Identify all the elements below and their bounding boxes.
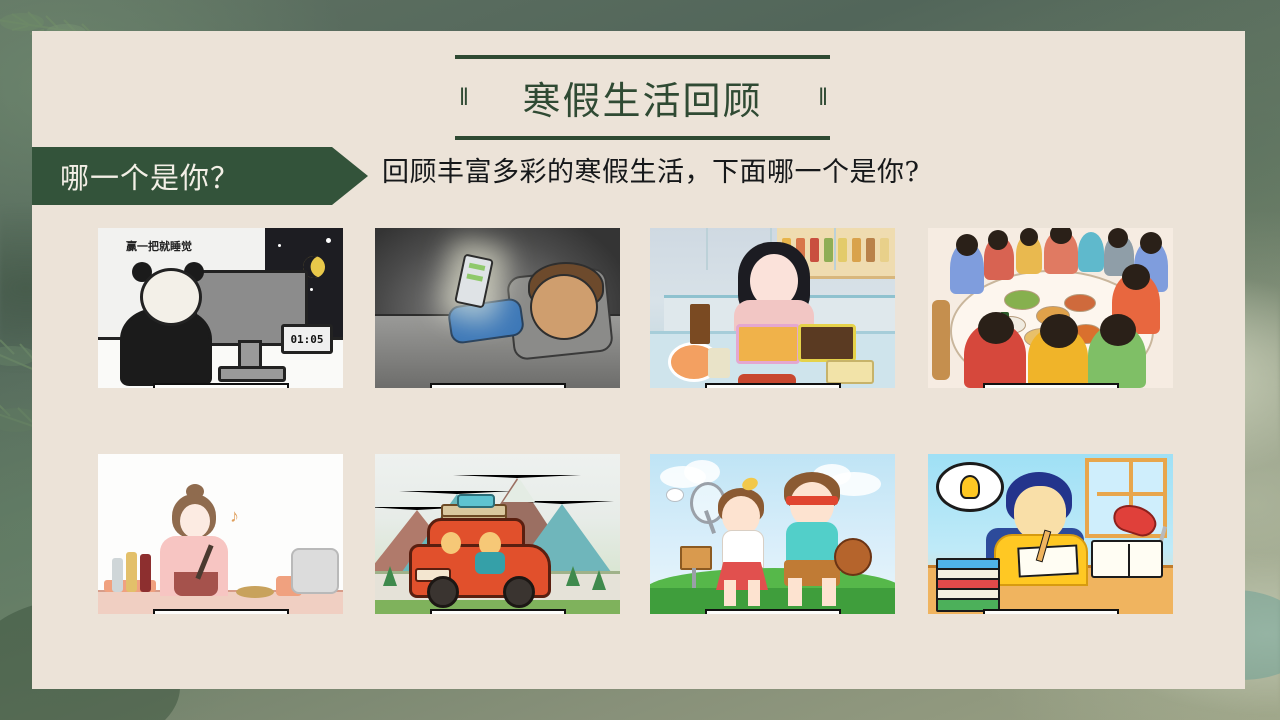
clock-time: 01:05: [290, 333, 323, 346]
wheel: [503, 576, 535, 608]
hoop-pole: [692, 568, 696, 588]
page-title: ‖ ‖ 寒假生活回顾: [455, 55, 830, 140]
card-label: 增强体魄: [705, 609, 841, 614]
jar: [880, 238, 889, 262]
wheel: [427, 576, 459, 608]
digital-clock: 01:05: [281, 324, 333, 354]
guest-head: [1020, 228, 1038, 246]
card-image-dinner-party: [928, 228, 1173, 388]
cabinet-divider: [834, 228, 836, 270]
boy-leg: [822, 578, 836, 606]
card-image-kids-sports: [650, 454, 895, 614]
card-image-road-trip: [375, 454, 620, 614]
panda-head: [140, 268, 202, 326]
jar: [866, 238, 875, 262]
star-icon: [310, 288, 313, 291]
card-image-boy-studying: [928, 454, 1173, 614]
monitor-base: [218, 366, 286, 382]
boy-shirt: [786, 522, 838, 564]
face: [180, 504, 210, 538]
card-image-phone-in-bed: [375, 228, 620, 388]
shuttlecock-icon: [666, 488, 684, 502]
card-label: 出行游玩: [430, 609, 566, 614]
card-mukbang[interactable]: 胡吃海喝: [650, 228, 895, 388]
card-image-panda-gamer: 赢一把就睡觉 01:05: [98, 228, 343, 388]
card-label: 朋友聚会: [983, 383, 1119, 388]
girl-leg: [724, 580, 736, 606]
luggage-top: [457, 494, 495, 508]
card-label: 胡吃海喝: [705, 383, 841, 388]
snack-box: [690, 304, 710, 344]
rice-cooker: [291, 548, 339, 594]
guest-head: [1140, 232, 1162, 254]
snow-cap: [503, 478, 535, 502]
passenger-head: [441, 532, 461, 554]
star-icon: [278, 244, 281, 247]
lightbulb-icon: [960, 475, 980, 499]
girl-leg: [748, 580, 760, 606]
guest-head: [1040, 314, 1078, 348]
subtitle-text: 回顾丰富多彩的寒假生活，下面哪一个是你?: [382, 150, 919, 189]
card-label: 昼夜游戏: [153, 383, 289, 388]
basketball-hoop: [680, 546, 712, 570]
card-phone-in-bed[interactable]: 网络达人: [375, 228, 620, 388]
slide-canvas: ‖ ‖ 寒假生活回顾 哪一个是你？ 回顾丰富多彩的寒假生活，下面哪一个是你?: [0, 0, 1280, 720]
meme-caption: 赢一把就睡觉: [126, 238, 192, 254]
guest-head: [956, 234, 978, 256]
cabinet-divider: [706, 228, 708, 270]
headband: [786, 496, 838, 505]
card-row-2: ♪ 增长技能: [98, 454, 1173, 680]
card-panda-gamer[interactable]: 赢一把就睡觉 01:05 昼夜游戏: [98, 228, 343, 388]
card-label: 网络达人: [430, 383, 566, 388]
head: [530, 274, 598, 340]
music-note-icon: ♪: [230, 506, 239, 527]
food-tray: [826, 360, 874, 384]
card-road-trip[interactable]: 出行游玩: [375, 454, 620, 614]
card-grid: 赢一把就睡觉 01:05 昼夜游戏 网络达人: [98, 228, 1173, 680]
drink-cup: [708, 348, 730, 378]
cloud: [684, 460, 720, 484]
guest-head: [1100, 314, 1136, 346]
bottle: [112, 558, 123, 592]
boy-face: [1014, 486, 1066, 540]
driver-body: [475, 552, 505, 574]
thought-bubble: [936, 462, 1004, 512]
chair: [932, 300, 950, 380]
title-text: 寒假生活回顾: [455, 55, 830, 140]
card-cooking[interactable]: ♪ 增长技能: [98, 454, 343, 614]
section-tag-banner: 哪一个是你？: [32, 147, 368, 205]
guest-head: [1108, 228, 1128, 248]
jar: [810, 238, 819, 262]
basketball-icon: [834, 538, 872, 576]
dish: [1004, 290, 1040, 310]
guest-head: [1122, 264, 1150, 290]
guest-head: [978, 312, 1014, 344]
phone-icon: [454, 253, 494, 308]
jar: [852, 238, 861, 262]
bottle: [140, 554, 151, 592]
card-dinner-party[interactable]: 朋友聚会: [928, 228, 1173, 388]
card-kids-sports[interactable]: 增强体魄: [650, 454, 895, 614]
noodle-cup: [736, 324, 800, 364]
window-bar: [1097, 492, 1163, 496]
open-book: [1091, 540, 1163, 578]
dish: [1064, 294, 1096, 312]
card-image-mukbang: [650, 228, 895, 388]
guest-head: [988, 230, 1008, 250]
card-row-1: 赢一把就睡觉 01:05 昼夜游戏 网络达人: [98, 228, 1173, 454]
tree-icon: [383, 566, 397, 586]
section-tag-label: 哪一个是你？: [60, 155, 240, 197]
jar: [838, 238, 847, 262]
noodle-cup-2: [798, 324, 856, 362]
card-boy-studying[interactable]: 弯道超车: [928, 454, 1173, 614]
book-spine: [1128, 544, 1130, 578]
noodles: [236, 586, 274, 598]
tree-icon: [592, 570, 606, 590]
star-icon: [326, 238, 331, 243]
card-image-cooking: ♪: [98, 454, 343, 614]
card-label: 弯道超车: [983, 609, 1119, 614]
boy-leg: [788, 578, 802, 606]
bottle: [126, 552, 137, 592]
notebook-page: [1017, 544, 1078, 577]
tree-icon: [566, 566, 580, 586]
guest: [1078, 232, 1104, 272]
card-label: 增长技能: [153, 609, 289, 614]
jar: [824, 238, 833, 262]
